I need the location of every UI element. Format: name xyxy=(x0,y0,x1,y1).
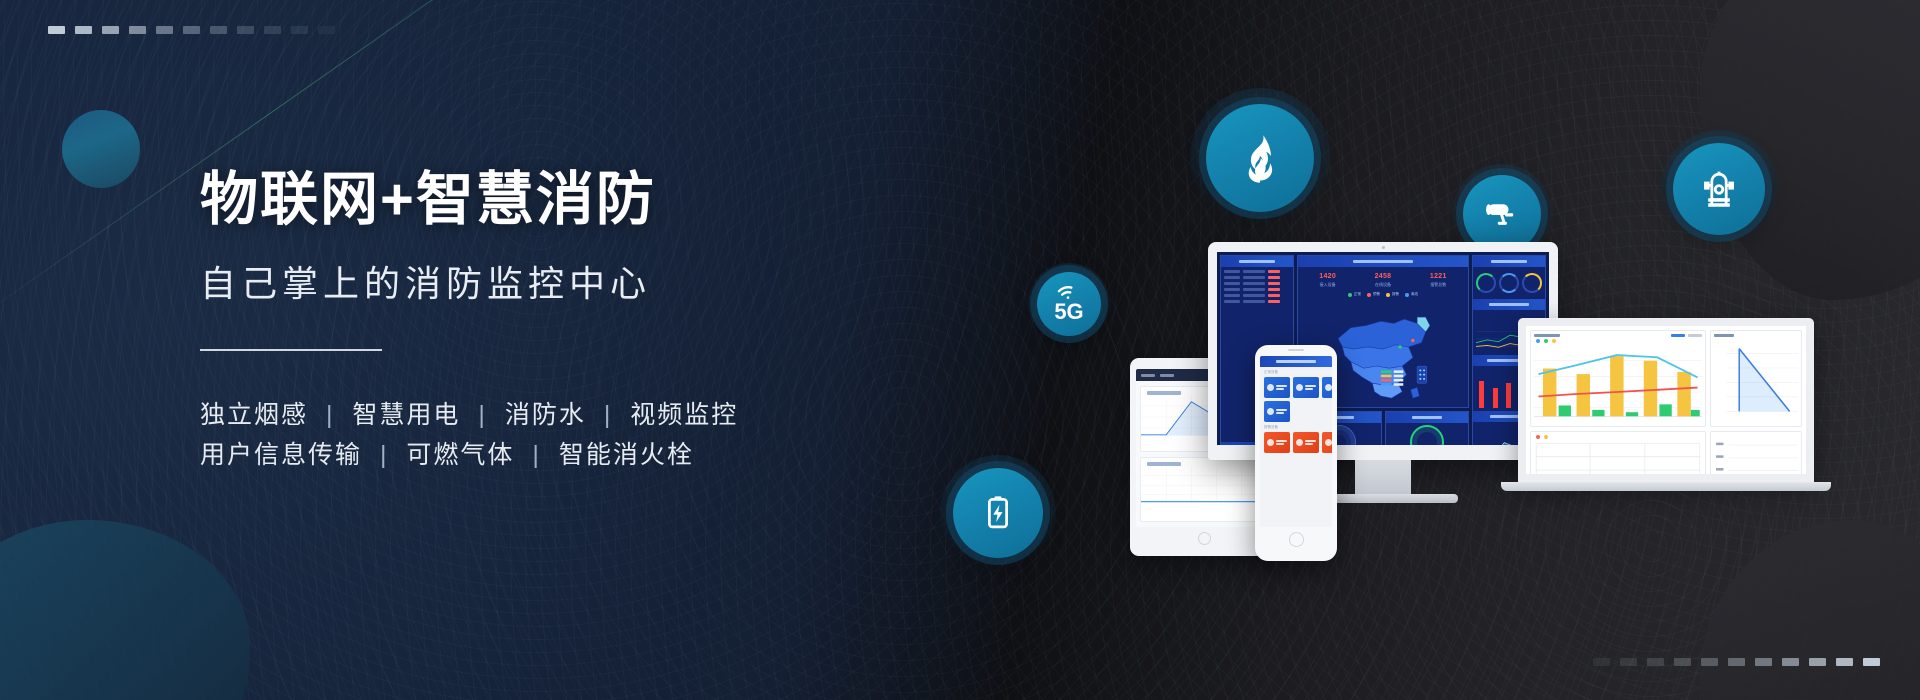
laptop-table-card xyxy=(1530,431,1706,482)
tile-icon xyxy=(1296,439,1303,446)
axis-chart-svg xyxy=(1714,435,1798,482)
phone-tile-grid-normal xyxy=(1260,377,1332,422)
feature-item: 视频监控 xyxy=(630,401,738,429)
list-item[interactable] xyxy=(1264,432,1290,453)
laptop-screen xyxy=(1518,318,1814,482)
flame-icon xyxy=(1234,132,1286,184)
kpi-value: 2458 xyxy=(1375,273,1392,280)
hero-banner: 物联网+智慧消防 自己掌上的消防监控中心 独立烟感 | 智慧用电 | 消防水 |… xyxy=(0,0,1920,700)
feature-row-1: 独立烟感 | 智慧用电 | 消防水 | 视频监控 xyxy=(200,395,920,436)
kpi-value: 1420 xyxy=(1319,273,1336,280)
badge-disc xyxy=(1206,104,1314,212)
table-row xyxy=(1224,288,1290,291)
phone-section-normal: 正常设备 xyxy=(1260,367,1332,377)
feature-item: 用户信息传输 xyxy=(200,441,362,469)
fire-hydrant-icon xyxy=(1695,165,1743,213)
feature-item: 智能消火栓 xyxy=(559,441,694,469)
tile-icon xyxy=(1267,439,1274,446)
badge-fire-flame xyxy=(1190,88,1330,228)
decline-chart-svg xyxy=(1714,339,1798,423)
dash-row-top-left xyxy=(48,26,335,34)
legend-item: 预警 xyxy=(1367,292,1380,297)
battery-bolt-icon xyxy=(976,491,1020,535)
circle-blob-top-left xyxy=(62,110,140,188)
list-item[interactable] xyxy=(1293,432,1319,453)
kpi-group: 1420 接入设备 2458 在线设备 1221 xyxy=(1298,267,1468,292)
gauge-item xyxy=(1499,273,1519,293)
badge-5g-label: 5G xyxy=(1054,301,1083,323)
kpi-item: 1420 接入设备 xyxy=(1319,273,1336,288)
hero-copy: 物联网+智慧消防 自己掌上的消防监控中心 独立烟感 | 智慧用电 | 消防水 |… xyxy=(200,168,920,476)
map-legend: 正常 预警 报警 离线 xyxy=(1298,292,1468,300)
imac-stand-neck xyxy=(1355,460,1411,494)
phone-app-header xyxy=(1260,356,1332,367)
wifi-icon xyxy=(1056,286,1082,299)
panel-header xyxy=(1221,256,1293,267)
badge-disc: 5G xyxy=(1037,272,1101,336)
title-divider xyxy=(200,349,382,351)
card-header xyxy=(1534,334,1702,337)
laptop-base xyxy=(1501,482,1831,491)
feature-separator: | xyxy=(595,401,622,429)
laptop-decline-chart xyxy=(1714,339,1798,423)
list-item[interactable] xyxy=(1322,432,1332,453)
laptop-table-grid xyxy=(1534,441,1702,482)
dash-row-bottom-right xyxy=(1593,658,1880,666)
phone-earpiece xyxy=(1288,349,1304,351)
laptop-dashboard xyxy=(1518,318,1848,508)
badge-disc xyxy=(953,468,1043,558)
laptop-axis-card xyxy=(1710,431,1802,482)
badge-battery-power xyxy=(940,455,1056,571)
feature-item: 可燃气体 xyxy=(406,441,514,469)
laptop-axis-chart xyxy=(1714,435,1798,482)
panel-header xyxy=(1298,256,1468,267)
phone-home-button[interactable] xyxy=(1289,532,1304,547)
tablet-home-button[interactable] xyxy=(1198,532,1211,545)
laptop-energy-chart xyxy=(1534,345,1702,423)
feature-separator: | xyxy=(317,401,344,429)
laptop-energy-card xyxy=(1530,330,1706,427)
gauge-group xyxy=(1473,267,1545,299)
list-item[interactable] xyxy=(1264,401,1290,422)
feature-item: 智慧用电 xyxy=(352,401,460,429)
feature-list: 独立烟感 | 智慧用电 | 消防水 | 视频监控 用户信息传输 | 可燃气体 |… xyxy=(200,395,920,476)
table-row xyxy=(1224,270,1290,273)
radar-panel-right xyxy=(1385,411,1470,445)
badge-network-5g: 5G xyxy=(1028,263,1110,345)
kpi-item: 1221 报警总数 xyxy=(1430,273,1447,288)
laptop-decline-card xyxy=(1710,330,1802,427)
kpi-value: 1221 xyxy=(1430,273,1447,280)
energy-chart-svg xyxy=(1534,345,1702,423)
badge-disc xyxy=(1673,143,1765,235)
cctv-camera-icon xyxy=(1481,193,1523,235)
table-grid-svg xyxy=(1534,441,1702,482)
blob-bottom-left xyxy=(0,520,250,700)
phone-screen: 正常设备 报警设备 xyxy=(1260,356,1332,527)
tile-icon xyxy=(1267,384,1274,391)
kpi-label: 在线设备 xyxy=(1375,282,1392,288)
phone-tile-grid-alarm xyxy=(1260,432,1332,453)
table-row xyxy=(1224,276,1290,279)
legend-item: 离线 xyxy=(1405,292,1418,297)
feature-item: 独立烟感 xyxy=(200,401,308,429)
list-item[interactable] xyxy=(1293,377,1319,398)
laptop-row-bottom xyxy=(1530,431,1802,482)
panel-subheader xyxy=(1473,299,1545,310)
feature-separator: | xyxy=(523,441,550,469)
page-subtitle: 自己掌上的消防监控中心 xyxy=(200,255,920,307)
tile-icon xyxy=(1267,408,1274,415)
panel-header xyxy=(1473,256,1545,267)
kpi-item: 2458 在线设备 xyxy=(1375,273,1392,288)
table-row xyxy=(1224,294,1290,297)
feature-item: 消防水 xyxy=(505,401,586,429)
table-row xyxy=(1224,282,1290,285)
feature-separator: | xyxy=(371,441,398,469)
feature-separator: | xyxy=(469,401,496,429)
tile-icon xyxy=(1325,439,1332,446)
laptop-row-top xyxy=(1530,330,1802,427)
kpi-label: 接入设备 xyxy=(1319,282,1336,288)
panel-header xyxy=(1386,412,1469,423)
radar-ring-green xyxy=(1386,423,1469,445)
imac-webcam-icon xyxy=(1382,246,1385,249)
card-header xyxy=(1714,334,1798,337)
list-item[interactable] xyxy=(1264,377,1290,398)
tile-icon xyxy=(1296,384,1303,391)
page-title: 物联网+智慧消防 xyxy=(200,168,920,233)
kpi-label: 报警总数 xyxy=(1430,282,1447,288)
legend-item: 正常 xyxy=(1348,292,1361,297)
phone-section-alarm: 报警设备 xyxy=(1260,422,1332,432)
table-row xyxy=(1224,300,1290,303)
badge-fire-hydrant xyxy=(1660,130,1778,248)
phone-app: 正常设备 报警设备 xyxy=(1255,345,1337,561)
tile-icon xyxy=(1325,384,1332,391)
legend-item: 报警 xyxy=(1386,292,1399,297)
china-map-svg xyxy=(1319,300,1447,407)
gauge-item xyxy=(1522,273,1542,293)
device-mockups: 1420 接入设备 2458 在线设备 1221 xyxy=(1120,290,1920,590)
card-tabs[interactable] xyxy=(1671,334,1702,337)
list-item[interactable] xyxy=(1322,377,1332,398)
feature-row-2: 用户信息传输 | 可燃气体 | 智能消火栓 xyxy=(200,435,920,476)
alarm-list xyxy=(1221,267,1293,306)
gauge-item xyxy=(1476,273,1496,293)
